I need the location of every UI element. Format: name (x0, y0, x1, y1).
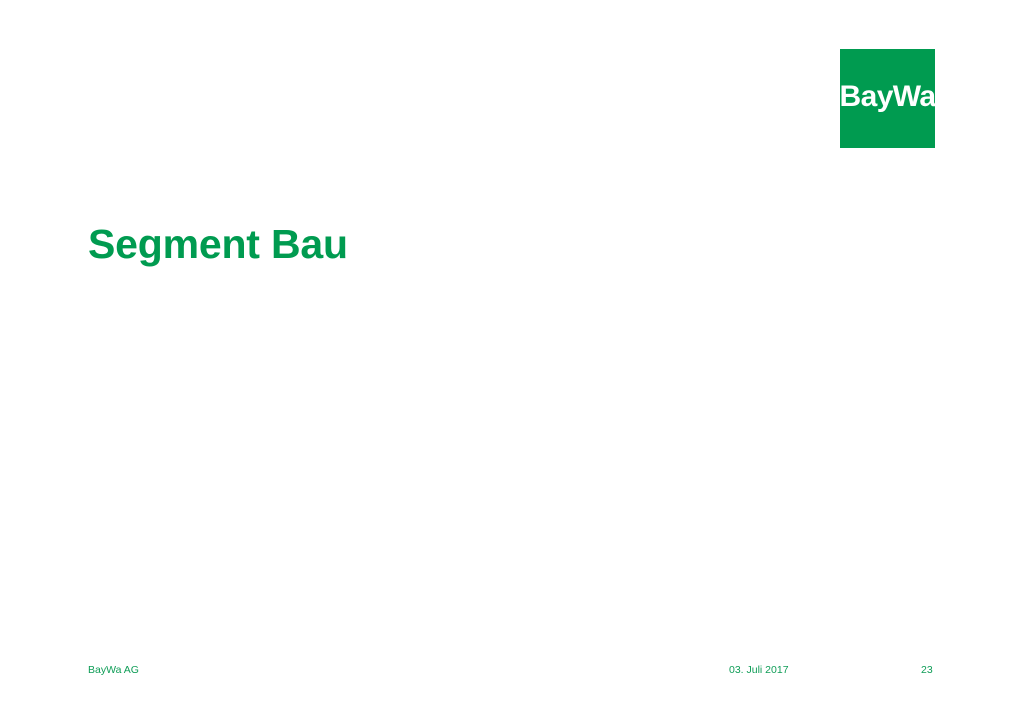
baywa-logo: BayWa (840, 49, 935, 148)
footer-page-number: 23 (921, 663, 933, 677)
footer-date: 03. Juli 2017 (729, 663, 789, 677)
presentation-slide: BayWa Segment Bau BayWa AG 03. Juli 2017… (0, 0, 1024, 724)
slide-footer: BayWa AG 03. Juli 2017 23 (0, 663, 1024, 681)
slide-content-area (88, 260, 936, 640)
footer-company-name: BayWa AG (88, 663, 139, 677)
baywa-logo-text: BayWa (840, 82, 936, 112)
